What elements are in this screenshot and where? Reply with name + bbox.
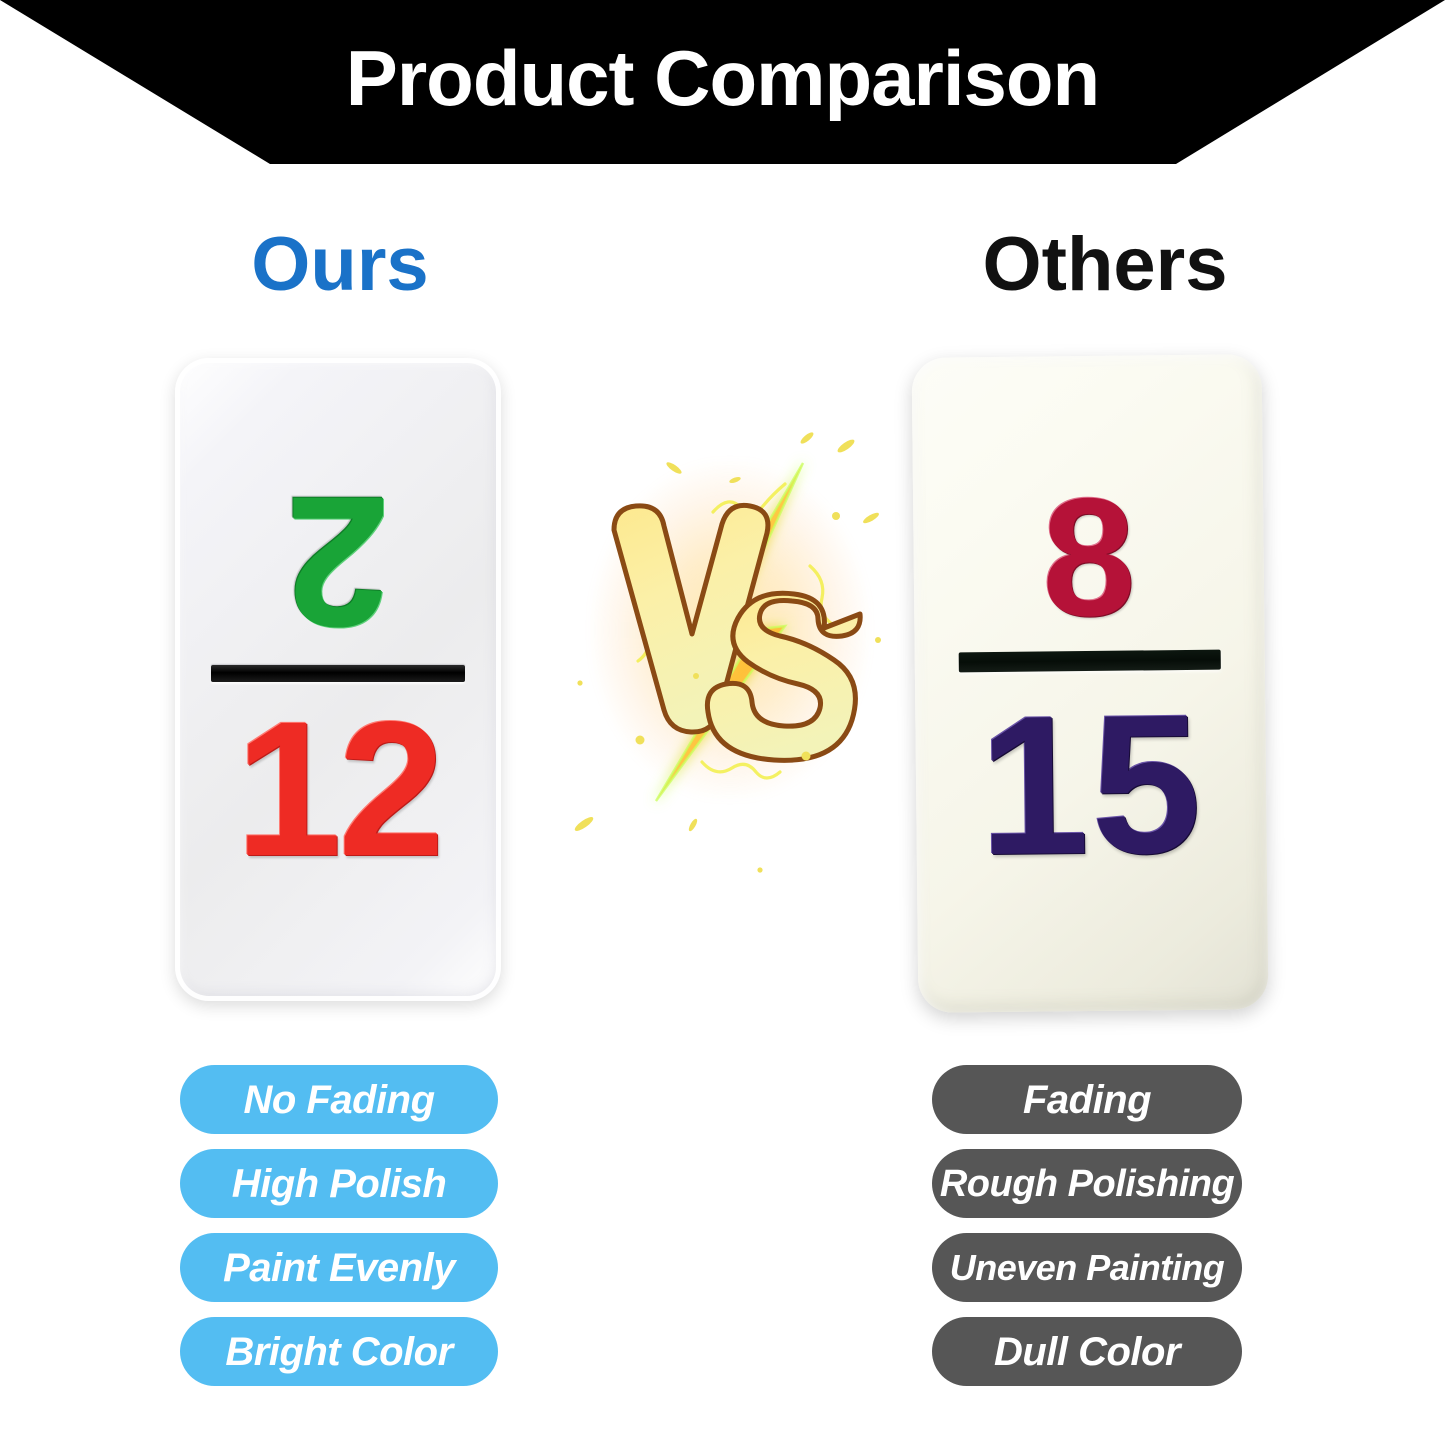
- domino-tile-others: 8 15: [912, 354, 1269, 1013]
- tile-face-others: 8 15: [912, 354, 1269, 1013]
- domino-tile-ours: 2 12: [175, 358, 501, 1001]
- versus-icon: [560, 400, 900, 880]
- tile-bottom-number-others: 15: [978, 690, 1204, 880]
- pill-label: Paint Evenly: [223, 1248, 455, 1288]
- tile-bottom-number-ours: 12: [235, 698, 441, 880]
- versus-badge: [560, 400, 900, 880]
- pill-label: Rough Polishing: [940, 1165, 1234, 1203]
- pill-others-1[interactable]: Rough Polishing: [932, 1149, 1242, 1218]
- pill-label: No Fading: [243, 1080, 434, 1120]
- feature-pills-ours: No Fading High Polish Paint Evenly Brigh…: [180, 1065, 498, 1386]
- pill-ours-1[interactable]: High Polish: [180, 1149, 498, 1218]
- pill-others-3[interactable]: Dull Color: [932, 1317, 1242, 1386]
- tile-divider-ours: [211, 665, 465, 682]
- page-title: Product Comparison: [0, 0, 1445, 164]
- pill-ours-0[interactable]: No Fading: [180, 1065, 498, 1134]
- pill-label: Fading: [1023, 1080, 1151, 1120]
- feature-pills-others: Fading Rough Polishing Uneven Painting D…: [932, 1065, 1242, 1386]
- tile-divider-others: [959, 650, 1221, 673]
- tile-top-number-ours: 2: [286, 472, 389, 649]
- pill-label: Bright Color: [225, 1332, 452, 1372]
- pill-others-2[interactable]: Uneven Painting: [932, 1233, 1242, 1302]
- pill-label: High Polish: [232, 1164, 447, 1204]
- pill-ours-3[interactable]: Bright Color: [180, 1317, 498, 1386]
- pill-ours-2[interactable]: Paint Evenly: [180, 1233, 498, 1302]
- pill-label: Uneven Painting: [950, 1250, 1225, 1286]
- pill-others-0[interactable]: Fading: [932, 1065, 1242, 1134]
- tile-face-ours: 2 12: [175, 358, 501, 1001]
- column-heading-others: Others: [765, 227, 1445, 303]
- tile-top-number-others: 8: [1041, 477, 1136, 638]
- column-heading-ours: Ours: [0, 227, 680, 303]
- pill-label: Dull Color: [994, 1332, 1180, 1372]
